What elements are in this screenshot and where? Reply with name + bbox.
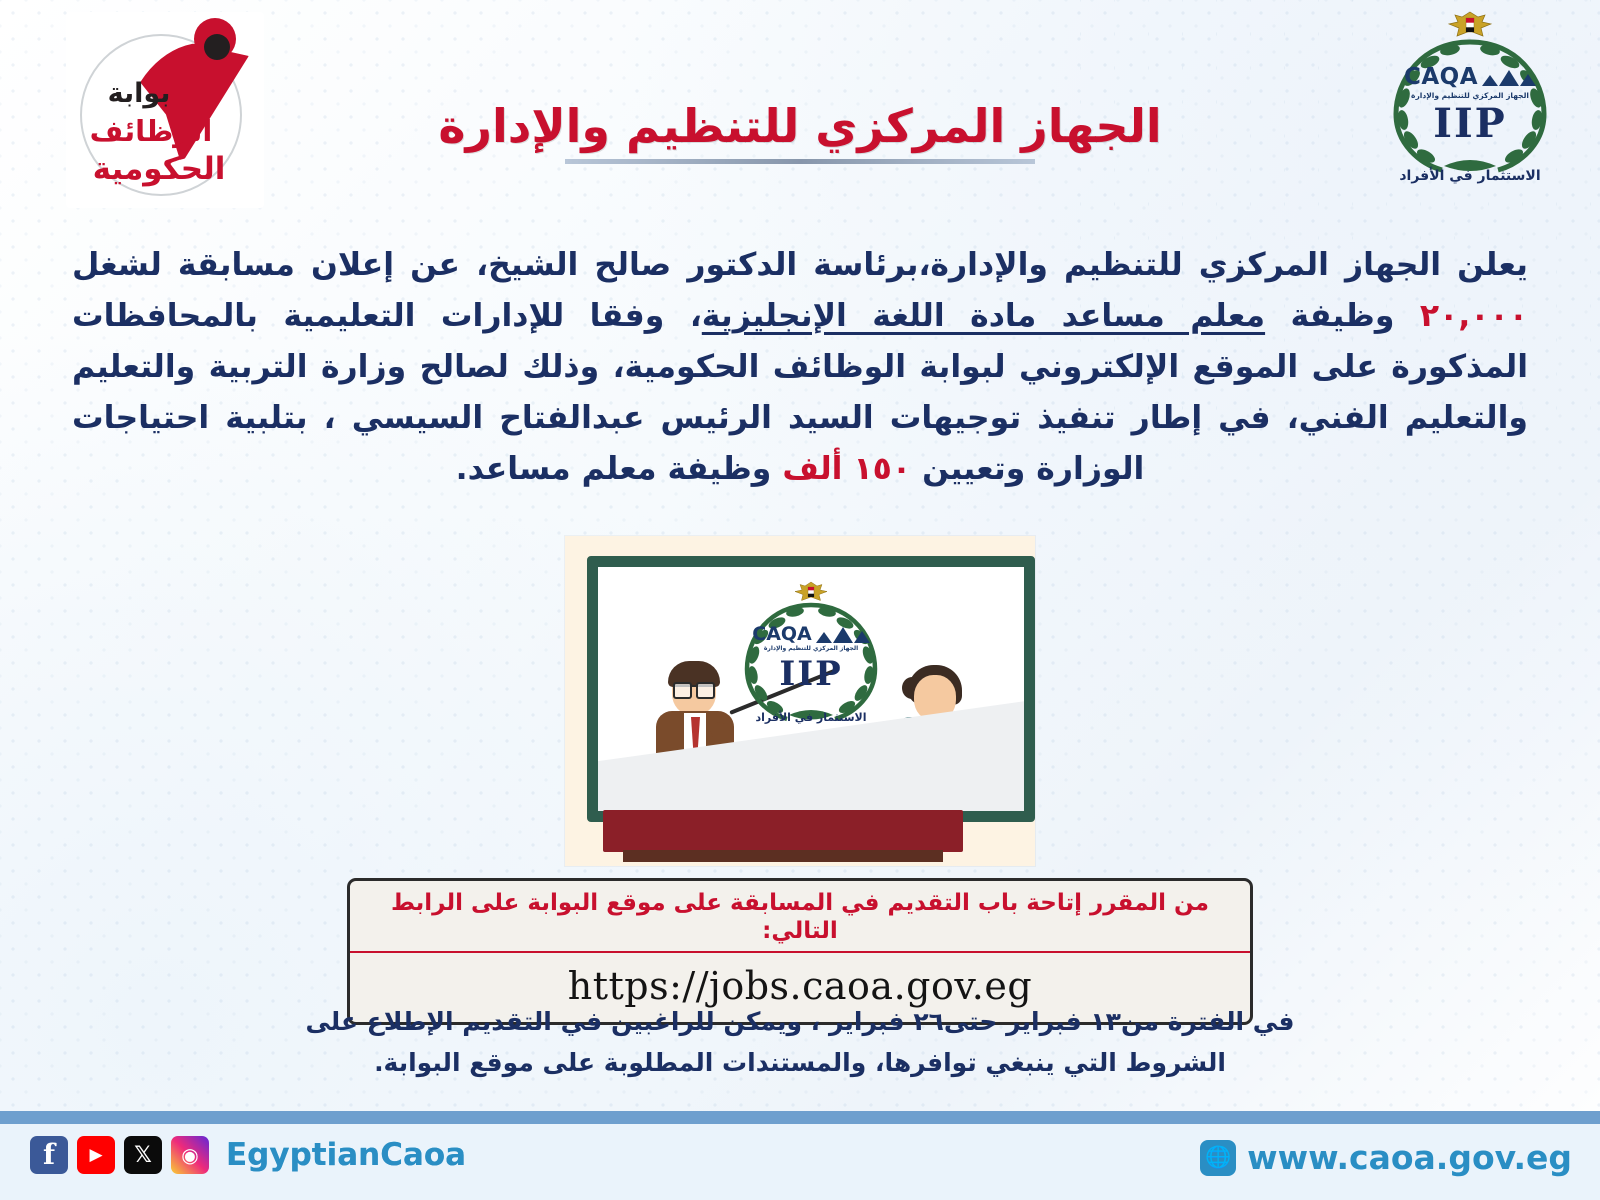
job-subject: معلم مساعد مادة اللغة الإنجليزية	[702, 298, 1265, 334]
jobs-count-150k: ١٥٠ ألف	[782, 451, 911, 487]
body-part-2: وظيفة	[1265, 298, 1420, 334]
instagram-icon[interactable]: ◉	[171, 1136, 209, 1174]
page-title: الجهاز المركزي للتنظيم والإدارة	[0, 100, 1600, 164]
page-title-text: الجهاز المركزي للتنظيم والإدارة	[438, 100, 1161, 153]
globe-icon: 🌐	[1200, 1140, 1236, 1176]
board-caoa-crest: CAQA الجهاز المركزي للتنظيم والإدارة IIP…	[731, 581, 891, 761]
application-link-note: من المقرر إتاحة باب التقديم في المسابقة …	[350, 881, 1250, 953]
board-iip-arabic-subtitle: الاستثمار في الأفراد	[755, 711, 866, 724]
social-handle: EgyptianCaoa	[226, 1137, 466, 1173]
announcement-body: يعلن الجهاز المركزي للتنظيم والإدارة،برئ…	[72, 240, 1528, 495]
board-pyramids-icon	[816, 627, 870, 643]
logo-head-dark-icon	[204, 34, 230, 60]
jobs-count-20000: ٢٠,٠٠٠	[1420, 298, 1528, 334]
title-underline	[565, 159, 1035, 164]
desk	[603, 810, 963, 852]
youtube-icon[interactable]: ▶	[77, 1136, 115, 1174]
glasses-icon	[673, 685, 715, 698]
caoa-wordmark: CAQA الجهاز المركزي للتنظيم والإدارة	[1405, 66, 1535, 100]
application-dates-text: في الفترة من١٣ فبراير حتى٢٦ فبراير ، ويم…	[260, 1002, 1340, 1083]
board-caoa-wordmark: CAQA الجهاز المركزي للتنظيم والإدارة	[752, 625, 870, 652]
desk-base	[623, 850, 943, 862]
poster-footer: f ▶ 𝕏 ◉ EgyptianCaoa 🌐 www.caoa.gov.eg	[0, 1124, 1600, 1200]
teachers-presentation-illustration: CAQA الجهاز المركزي للتنظيم والإدارة IIP…	[565, 536, 1035, 866]
pyramids-icon	[1482, 70, 1536, 86]
caoa-letters: CAQA	[1404, 66, 1478, 89]
board-caoa-letters: CAQA	[752, 625, 812, 644]
social-links: f ▶ 𝕏 ◉ EgyptianCaoa	[30, 1136, 466, 1174]
website-url[interactable]: www.caoa.gov.eg	[1247, 1138, 1572, 1177]
poster-header: بوابة الوظائف الحكومية	[0, 0, 1600, 215]
body-part-4: وظيفة معلم مساعد.	[456, 451, 783, 487]
x-twitter-icon[interactable]: 𝕏	[124, 1136, 162, 1174]
footer-divider	[0, 1111, 1600, 1124]
website-link[interactable]: 🌐 www.caoa.gov.eg	[1200, 1138, 1572, 1177]
announcement-poster: بوابة الوظائف الحكومية	[0, 0, 1600, 1200]
body-part-1: يعلن الجهاز المركزي للتنظيم والإدارة،برئ…	[72, 247, 1528, 283]
facebook-icon[interactable]: f	[30, 1136, 68, 1174]
board-caoa-arabic-subtitle: الجهاز المركزي للتنظيم والإدارة	[752, 645, 870, 652]
caoa-arabic-subtitle: الجهاز المركزي للتنظيم والإدارة	[1405, 91, 1535, 100]
whiteboard: CAQA الجهاز المركزي للتنظيم والإدارة IIP…	[587, 556, 1035, 822]
board-iip-letters: IIP	[779, 657, 842, 691]
iip-arabic-subtitle: الاستثمار في الأفراد	[1399, 168, 1540, 184]
